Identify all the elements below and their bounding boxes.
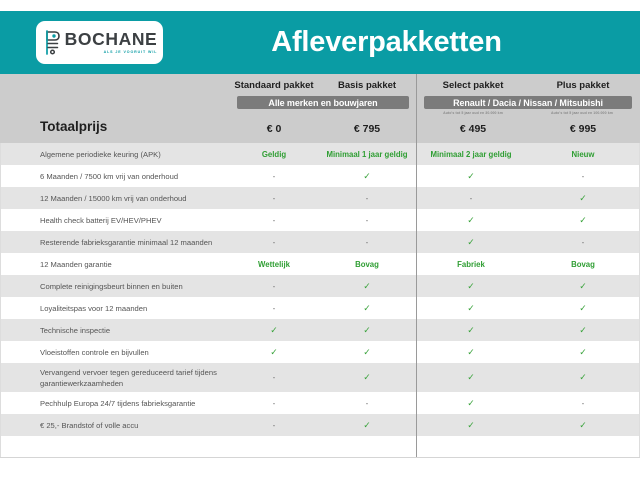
group-divider [416,74,417,458]
check-icon: ✓ [579,216,587,225]
badge-alle-merken: Alle merken en bouwjaren [237,96,409,109]
table-cell: ✓ [526,373,640,382]
note-select: Auto's tot 5 jaar oud en 30.000 km [420,111,526,115]
table-cell: ✓ [416,399,526,408]
table-cell: Bovag [526,260,640,269]
check-icon: ✓ [363,373,371,382]
note-plus: Auto's tot 5 jaar oud en 100.000 km [528,111,636,115]
table-cell: - [318,194,416,203]
check-icon: ✓ [579,326,587,335]
table-cell: ✓ [318,304,416,313]
column-header-basis: Basis pakket [318,80,416,91]
table-cell: Nieuw [526,150,640,159]
table-cell: - [230,238,318,247]
table-frame-left [0,143,1,458]
table-cell: ✓ [318,373,416,382]
features-table: Algemene periodieke keuring (APK)GeldigM… [0,143,640,436]
logo-wordmark: BOCHANE [65,31,158,49]
table-row: Complete reinigingsbeurt binnen en buite… [0,275,640,297]
table-cell: - [526,238,640,247]
table-cell: - [416,194,526,203]
price-plus: € 995 [528,123,638,135]
table-row: Loyaliteitspas voor 12 maanden-✓✓✓ [0,297,640,319]
table-cell: Geldig [230,150,318,159]
totaalprijs-label: Totaalprijs [40,119,107,134]
table-cell: - [230,172,318,181]
table-cell: Wettelijk [230,260,318,269]
table-cell: - [230,421,318,430]
check-icon: ✓ [579,282,587,291]
row-label: 12 Maanden / 15000 km vrij van onderhoud [0,193,230,204]
table-cell: ✓ [416,282,526,291]
table-cell: ✓ [526,194,640,203]
table-row: Technische inspectie✓✓✓✓ [0,319,640,341]
table-cell: ✓ [526,304,640,313]
table-cell: ✓ [230,348,318,357]
price-basis: € 795 [318,123,416,135]
table-cell: ✓ [416,348,526,357]
table-frame-bottom [0,457,640,458]
table-cell: Fabriek [416,260,526,269]
table-cell: ✓ [318,348,416,357]
check-icon: ✓ [467,373,475,382]
column-header-plus: Plus pakket [528,80,638,91]
table-cell: - [230,304,318,313]
check-icon: ✓ [579,304,587,313]
check-icon: ✓ [467,348,475,357]
table-cell: - [230,216,318,225]
table-cell: - [526,399,640,408]
check-icon: ✓ [363,282,371,291]
check-icon: ✓ [270,326,278,335]
table-cell: ✓ [416,326,526,335]
check-icon: ✓ [467,326,475,335]
check-icon: ✓ [579,194,587,203]
logo-tagline: ALS JE VOORUIT WIL [104,51,158,55]
table-row: Vervangend vervoer tegen gereduceerd tar… [0,363,640,392]
row-label: Loyaliteitspas voor 12 maanden [0,303,230,314]
check-icon: ✓ [270,348,278,357]
table-row: 12 Maanden / 15000 km vrij van onderhoud… [0,187,640,209]
table-cell: Bovag [318,260,416,269]
table-cell: ✓ [230,326,318,335]
row-label: 12 Maanden garantie [0,259,230,270]
table-cell: ✓ [318,421,416,430]
price-select: € 495 [418,123,528,135]
table-cell: ✓ [526,421,640,430]
row-label: Algemene periodieke keuring (APK) [0,149,230,160]
table-row: Vloeistoffen controle en bijvullen✓✓✓✓ [0,341,640,363]
column-header-standaard: Standaard pakket [230,80,318,91]
table-cell: ✓ [318,172,416,181]
table-cell: - [230,194,318,203]
price-standaard: € 0 [230,123,318,135]
row-label: Vervangend vervoer tegen gereduceerd tar… [0,367,230,389]
table-row: € 25,- Brandstof of volle accu-✓✓✓ [0,414,640,436]
table-cell: - [230,399,318,408]
row-label: Technische inspectie [0,325,230,336]
car-key-fob-icon [42,30,61,55]
table-row: Algemene periodieke keuring (APK)GeldigM… [0,143,640,165]
row-label: Resterende fabrieksgarantie minimaal 12 … [0,237,230,248]
check-icon: ✓ [467,282,475,291]
row-label: 6 Maanden / 7500 km vrij van onderhoud [0,171,230,182]
table-cell: - [230,373,318,382]
column-header-select: Select pakket [418,80,528,91]
table-cell: Minimaal 2 jaar geldig [416,150,526,159]
check-icon: ✓ [467,238,475,247]
table-cell: ✓ [416,373,526,382]
check-icon: ✓ [363,304,371,313]
row-label: Health check batterij EV/HEV/PHEV [0,215,230,226]
row-label: Vloeistoffen controle en bijvullen [0,347,230,358]
page-header: BOCHANE ALS JE VOORUIT WIL Afleverpakket… [0,11,640,74]
table-cell: - [230,282,318,291]
check-icon: ✓ [467,172,475,181]
table-row: Pechhulp Europa 24/7 tijdens fabrieksgar… [0,392,640,414]
table-cell: ✓ [526,326,640,335]
table-cell: ✓ [318,282,416,291]
table-row: 12 Maanden garantieWettelijkBovagFabriek… [0,253,640,275]
check-icon: ✓ [467,421,475,430]
check-icon: ✓ [579,348,587,357]
check-icon: ✓ [363,348,371,357]
row-label: € 25,- Brandstof of volle accu [0,420,230,431]
bochane-logo[interactable]: BOCHANE ALS JE VOORUIT WIL [36,21,163,64]
table-cell: ✓ [416,421,526,430]
check-icon: ✓ [467,216,475,225]
table-row: Resterende fabrieksgarantie minimaal 12 … [0,231,640,253]
table-cell: ✓ [526,348,640,357]
row-label: Pechhulp Europa 24/7 tijdens fabrieksgar… [0,398,230,409]
table-row: Health check batterij EV/HEV/PHEV--✓✓ [0,209,640,231]
check-icon: ✓ [363,421,371,430]
check-icon: ✓ [579,421,587,430]
table-cell: ✓ [318,326,416,335]
badge-merken-select-plus: Renault / Dacia / Nissan / Mitsubishi [424,96,632,109]
table-cell: ✓ [526,216,640,225]
table-cell: ✓ [416,304,526,313]
check-icon: ✓ [467,304,475,313]
page-title: Afleverpakketten [163,26,610,59]
check-icon: ✓ [363,172,371,181]
afleverpakketten-page: BOCHANE ALS JE VOORUIT WIL Afleverpakket… [0,0,640,480]
check-icon: ✓ [579,373,587,382]
table-cell: ✓ [416,216,526,225]
table-cell: - [318,238,416,247]
table-cell: - [318,399,416,408]
table-cell: - [318,216,416,225]
check-icon: ✓ [467,399,475,408]
table-cell: Minimaal 1 jaar geldig [318,150,416,159]
table-row: 6 Maanden / 7500 km vrij van onderhoud-✓… [0,165,640,187]
row-label: Complete reinigingsbeurt binnen en buite… [0,281,230,292]
table-cell: ✓ [416,238,526,247]
table-cell: - [526,172,640,181]
table-cell: ✓ [416,172,526,181]
table-cell: ✓ [526,282,640,291]
check-icon: ✓ [363,326,371,335]
